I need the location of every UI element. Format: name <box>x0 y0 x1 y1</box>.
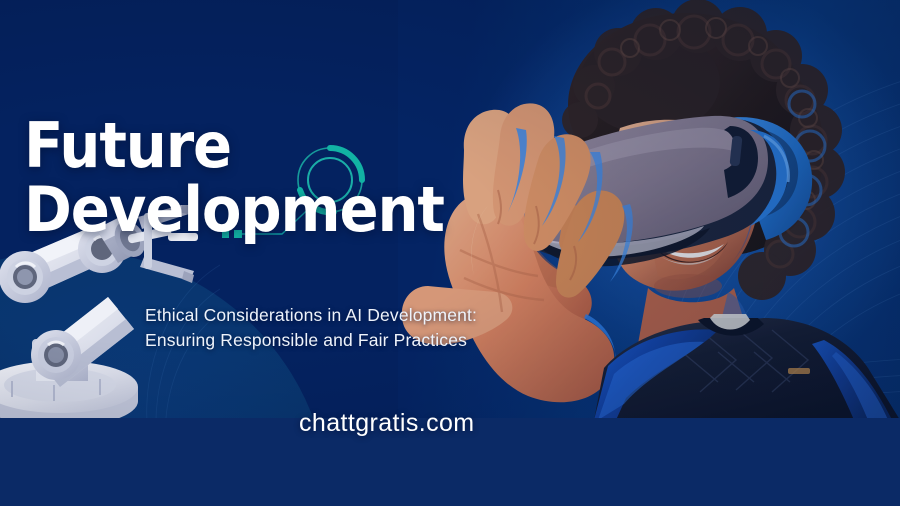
website-url[interactable]: chattgratis.com <box>299 409 475 438</box>
subtitle-text: Ethical Considerations in AI Development… <box>145 303 505 353</box>
banner-canvas: Future Development Ethical Consideration… <box>0 0 900 506</box>
page-title: Future Development <box>24 114 461 242</box>
